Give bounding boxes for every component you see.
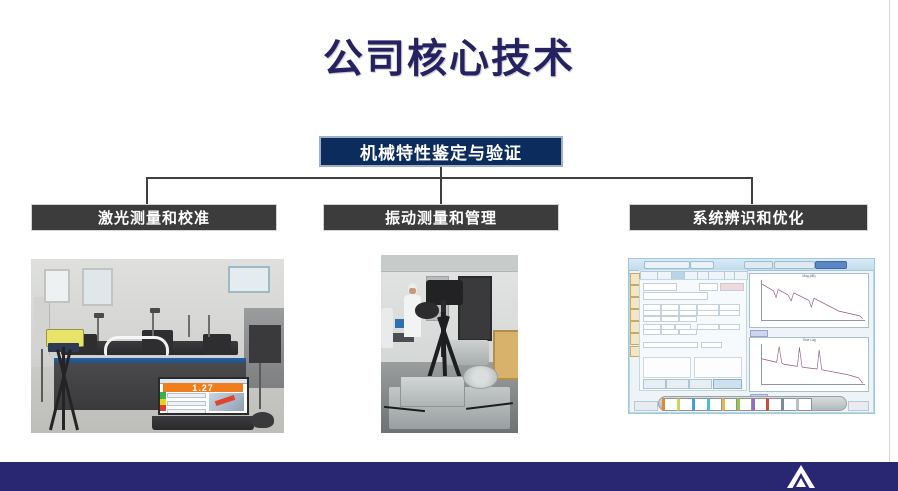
software-thumbnail-dock [658, 396, 846, 412]
diagram-branch-system-identification[interactable]: 系统辨识和优化 [629, 204, 868, 231]
panel-note-right [694, 357, 743, 378]
target-post-b [152, 311, 154, 335]
titlebar-field [644, 261, 690, 270]
grid-cell [697, 310, 719, 316]
param-button [699, 283, 718, 291]
grid-cell [643, 329, 661, 335]
app-device-illustration [209, 393, 244, 411]
timelag-plot: Time Lag [749, 337, 869, 392]
page-title: 公司核心技术 [0, 26, 898, 84]
laptop-keyboard [152, 416, 254, 430]
dock-thumbnail [692, 398, 708, 411]
dock-thumbnail [662, 398, 678, 411]
dock-thumbnail [781, 398, 797, 411]
company-triangle-logo [784, 462, 818, 491]
panel-button [701, 342, 722, 348]
floor-cable-left [41, 349, 43, 401]
parameter-grid [643, 304, 742, 337]
titlebar-button [744, 261, 773, 270]
software-parameter-panel [639, 279, 747, 391]
plot-x-axis [761, 384, 865, 385]
grid-cell [679, 329, 697, 335]
plot-x-axis [761, 320, 865, 321]
panel-subheader [643, 342, 698, 348]
target-post-a [97, 316, 99, 340]
magnitude-curve [761, 280, 865, 321]
dock-thumbnail [722, 398, 738, 411]
measurement-value-readout: 1.27 [163, 383, 243, 392]
dock-thumbnail [766, 398, 782, 411]
laptop-screen: 1.27 [158, 377, 249, 415]
grid-cell [643, 316, 661, 322]
dock-thumbnail [707, 398, 723, 411]
test-fixture [400, 376, 465, 406]
dock-thumbnail [677, 398, 693, 411]
software-statusbar-left [634, 401, 658, 411]
app-button-row [167, 407, 205, 412]
grid-cell [679, 316, 697, 322]
software-left-toolbar [630, 273, 637, 396]
right-rack-module [249, 325, 282, 363]
panel-action-button [643, 379, 666, 389]
timelag-plot-title: Time Lag [750, 338, 868, 342]
panel-primary-button [713, 379, 743, 389]
second-technician [381, 308, 393, 347]
vibration-measurement-cleanroom-photo [381, 255, 518, 433]
target-head-a [94, 313, 104, 318]
footer-bar [0, 462, 898, 491]
titlebar-active-button [815, 261, 846, 270]
wall-poster [82, 268, 114, 307]
floor-cable-right [259, 363, 261, 408]
laser-tripod [46, 329, 81, 430]
connector-horizontal-bus [146, 177, 753, 179]
camera-lens [415, 302, 438, 318]
param-checkbox-row [643, 292, 708, 300]
panel-action-button [666, 379, 689, 389]
panel-note-left [643, 357, 691, 378]
dock-thumbnail [737, 398, 753, 411]
grid-cell [697, 324, 719, 330]
grid-cell [719, 310, 741, 316]
cleanroom-ceiling [381, 255, 518, 272]
laser-metrology-bench-photo: 1.27 [31, 259, 284, 433]
diagram-branch-laser-measurement[interactable]: 激光测量和校准 [31, 204, 277, 231]
panel-action-button [689, 379, 712, 389]
target-head-b [150, 308, 160, 313]
circular-mount [463, 365, 498, 388]
target-post-d [208, 315, 210, 338]
wall-monitor [228, 266, 270, 293]
app-device-highlight [215, 395, 236, 406]
titlebar-field [690, 261, 714, 270]
magnitude-plot: Mag (dB) [749, 273, 869, 328]
target-post-c [188, 315, 190, 338]
dock-thumbnail [752, 398, 768, 411]
grid-cell [719, 324, 741, 330]
app-field-row [167, 393, 205, 398]
status-lamp-red [160, 405, 166, 411]
white-cable-loop [104, 336, 168, 356]
timelag-curve [761, 344, 865, 385]
app-field-group [167, 393, 205, 407]
app-field-row [167, 401, 205, 406]
grid-cell [661, 316, 679, 322]
diagram-root-node[interactable]: 机械特性鉴定与验证 [319, 136, 563, 167]
titlebar-button [774, 261, 815, 270]
dock-thumbnail [796, 398, 812, 411]
computer-mouse [251, 412, 274, 428]
slide-canvas: 公司核心技术 机械特性鉴定与验证 激光测量和校准 振动测量和管理 系统辨识和优化 [0, 0, 898, 491]
param-dropdown [643, 283, 677, 291]
status-lamp-column [160, 392, 166, 411]
diagram-branch-vibration-measurement[interactable]: 振动测量和管理 [323, 204, 559, 231]
system-identification-software-photo: Mag (dB) Time Lag [628, 258, 875, 414]
panel-action-buttons [643, 379, 742, 387]
grid-cell [661, 329, 679, 335]
software-statusbar-right [848, 401, 870, 411]
wall-window-left [44, 269, 71, 303]
measurement-laptop: 1.27 [158, 377, 249, 429]
magnitude-plot-title: Mag (dB) [750, 274, 868, 278]
software-plot-area: Mag (dB) Time Lag [749, 273, 869, 396]
param-button-highlight [720, 283, 744, 291]
